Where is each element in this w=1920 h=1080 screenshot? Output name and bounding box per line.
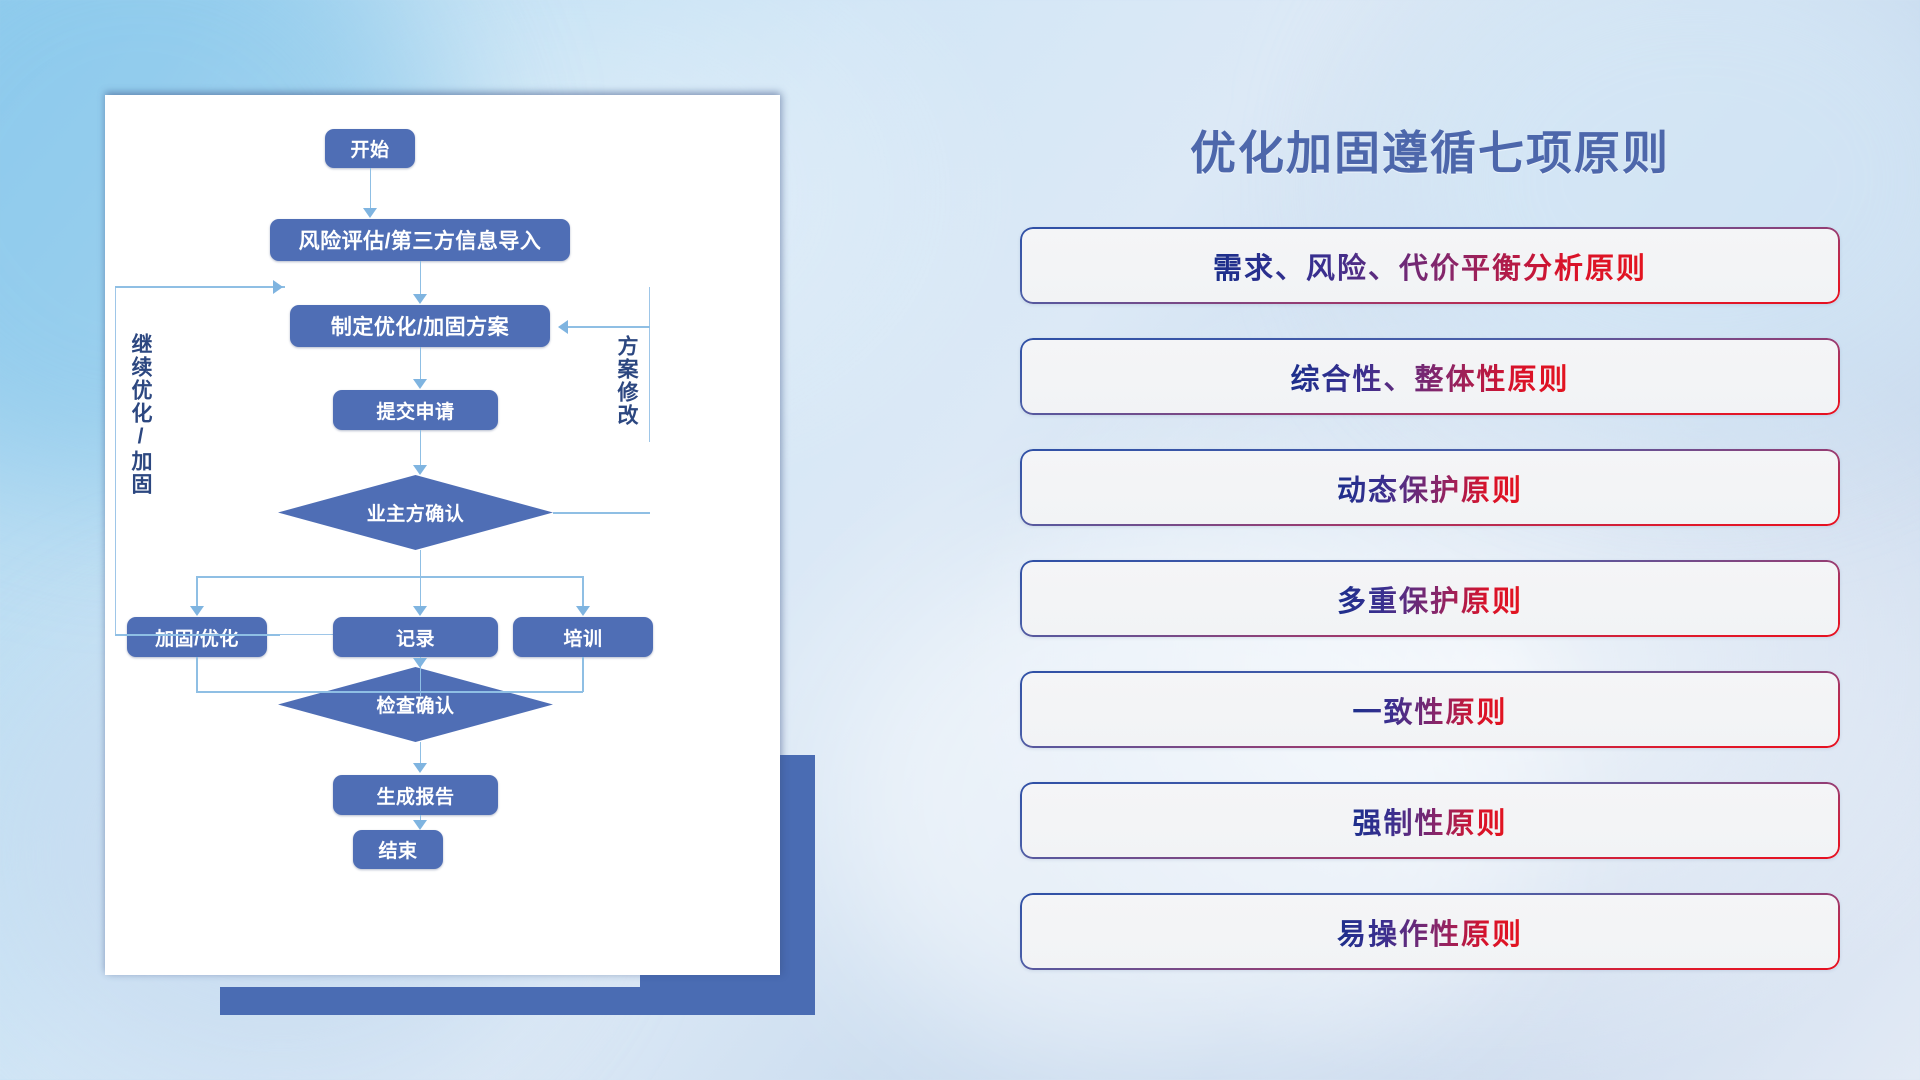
arrow-risk-to-plan (413, 294, 427, 304)
principle-label: 多重保护原则 (1337, 578, 1523, 620)
principle-label: 需求、风险、代价平衡分析原则 (1213, 245, 1647, 287)
connector-branch-bus (196, 576, 583, 578)
left-loop-top-connector (115, 286, 285, 288)
flow-node-record[interactable]: 记录 (333, 617, 498, 657)
left-loop-arrowhead (273, 280, 283, 294)
connector-check-to-report (420, 742, 422, 764)
arrow-branch-right (576, 606, 590, 616)
flow-node-end-label: 结束 (378, 836, 417, 863)
flowchart-panel: 开始 风险评估/第三方信息导入 制定优化/加固方案 提交申请 业主方确认 加固/… (105, 95, 780, 975)
connector-reinforce-down (196, 657, 198, 692)
principles-panel: 优化加固遵循七项原则 需求、风险、代价平衡分析原则 综合性、整体性原则 动态保护… (1020, 95, 1840, 1025)
principle-item[interactable]: 动态保护原则 (1020, 449, 1840, 526)
connector-owner-down-stub (420, 550, 422, 577)
principle-item[interactable]: 综合性、整体性原则 (1020, 338, 1840, 415)
connector-start-to-risk (370, 168, 372, 209)
flow-node-report[interactable]: 生成报告 (333, 775, 498, 815)
flow-decision-owner-confirm-label: 业主方确认 (278, 475, 553, 550)
edge-label-plan-revision: 方案修改 (615, 335, 637, 427)
principle-label: 强制性原则 (1352, 800, 1507, 842)
flow-decision-check-confirm[interactable]: 检查确认 (278, 667, 553, 742)
flow-node-plan[interactable]: 制定优化/加固方案 (290, 305, 550, 347)
flow-node-training[interactable]: 培训 (513, 617, 653, 657)
principle-item[interactable]: 需求、风险、代价平衡分析原则 (1020, 227, 1840, 304)
principles-title: 优化加固遵循七项原则 (1020, 117, 1840, 183)
connector-branch-mid (420, 576, 422, 607)
principle-item[interactable]: 多重保护原则 (1020, 560, 1840, 637)
connector-right-loop-to-plan (568, 326, 650, 328)
connector-branch-right (582, 576, 584, 607)
flow-node-end[interactable]: 结束 (353, 830, 443, 869)
flow-node-training-label: 培训 (563, 624, 602, 651)
principle-label: 综合性、整体性原则 (1290, 356, 1569, 398)
flow-node-submit[interactable]: 提交申请 (333, 390, 498, 430)
connector-branch-left (196, 576, 198, 607)
flow-decision-check-confirm-label: 检查确认 (278, 667, 553, 742)
principle-item[interactable]: 一致性原则 (1020, 671, 1840, 748)
arrow-start-to-risk (363, 208, 377, 218)
flow-node-start[interactable]: 开始 (325, 129, 415, 168)
arrow-branch-left (190, 606, 204, 616)
connector-owner-to-right-loop (553, 512, 650, 514)
connector-risk-to-plan (420, 261, 422, 295)
flow-node-start-label: 开始 (350, 135, 389, 162)
connector-check-to-left-loop (115, 634, 280, 636)
principle-item[interactable]: 易操作性原则 (1020, 893, 1840, 970)
arrow-merge-to-check (413, 658, 427, 668)
flow-node-reinforce-label: 加固/优化 (155, 624, 239, 651)
arrow-submit-to-owner (413, 465, 427, 475)
connector-merge-bus (196, 691, 583, 693)
arrow-plan-to-submit (413, 379, 427, 389)
flow-decision-owner-confirm[interactable]: 业主方确认 (278, 475, 553, 550)
edge-label-continue-optimize: 继续优化/加固 (129, 333, 151, 496)
flow-node-report-label: 生成报告 (376, 782, 454, 809)
principles-list: 需求、风险、代价平衡分析原则 综合性、整体性原则 动态保护原则 多重保护原则 一… (1020, 227, 1840, 1004)
connector-submit-to-owner (420, 430, 422, 466)
flowchart-canvas: 开始 风险评估/第三方信息导入 制定优化/加固方案 提交申请 业主方确认 加固/… (105, 95, 780, 975)
arrow-report-to-end (413, 820, 427, 830)
arrow-right-loop-to-plan (558, 320, 568, 334)
flow-node-reinforce[interactable]: 加固/优化 (127, 617, 267, 657)
principle-label: 一致性原则 (1352, 689, 1507, 731)
principle-label: 动态保护原则 (1337, 467, 1523, 509)
connector-training-down (582, 657, 584, 692)
connector-plan-to-submit (420, 347, 422, 380)
flow-node-risk-assessment[interactable]: 风险评估/第三方信息导入 (270, 219, 570, 261)
flow-node-submit-label: 提交申请 (376, 397, 454, 424)
flow-node-plan-label: 制定优化/加固方案 (331, 311, 509, 341)
principle-item[interactable]: 强制性原则 (1020, 782, 1840, 859)
flow-node-record-label: 记录 (396, 624, 435, 651)
arrow-check-to-report (413, 763, 427, 773)
principle-label: 易操作性原则 (1337, 911, 1523, 953)
arrow-branch-mid (413, 606, 427, 616)
flow-node-risk-assessment-label: 风险评估/第三方信息导入 (299, 225, 542, 255)
